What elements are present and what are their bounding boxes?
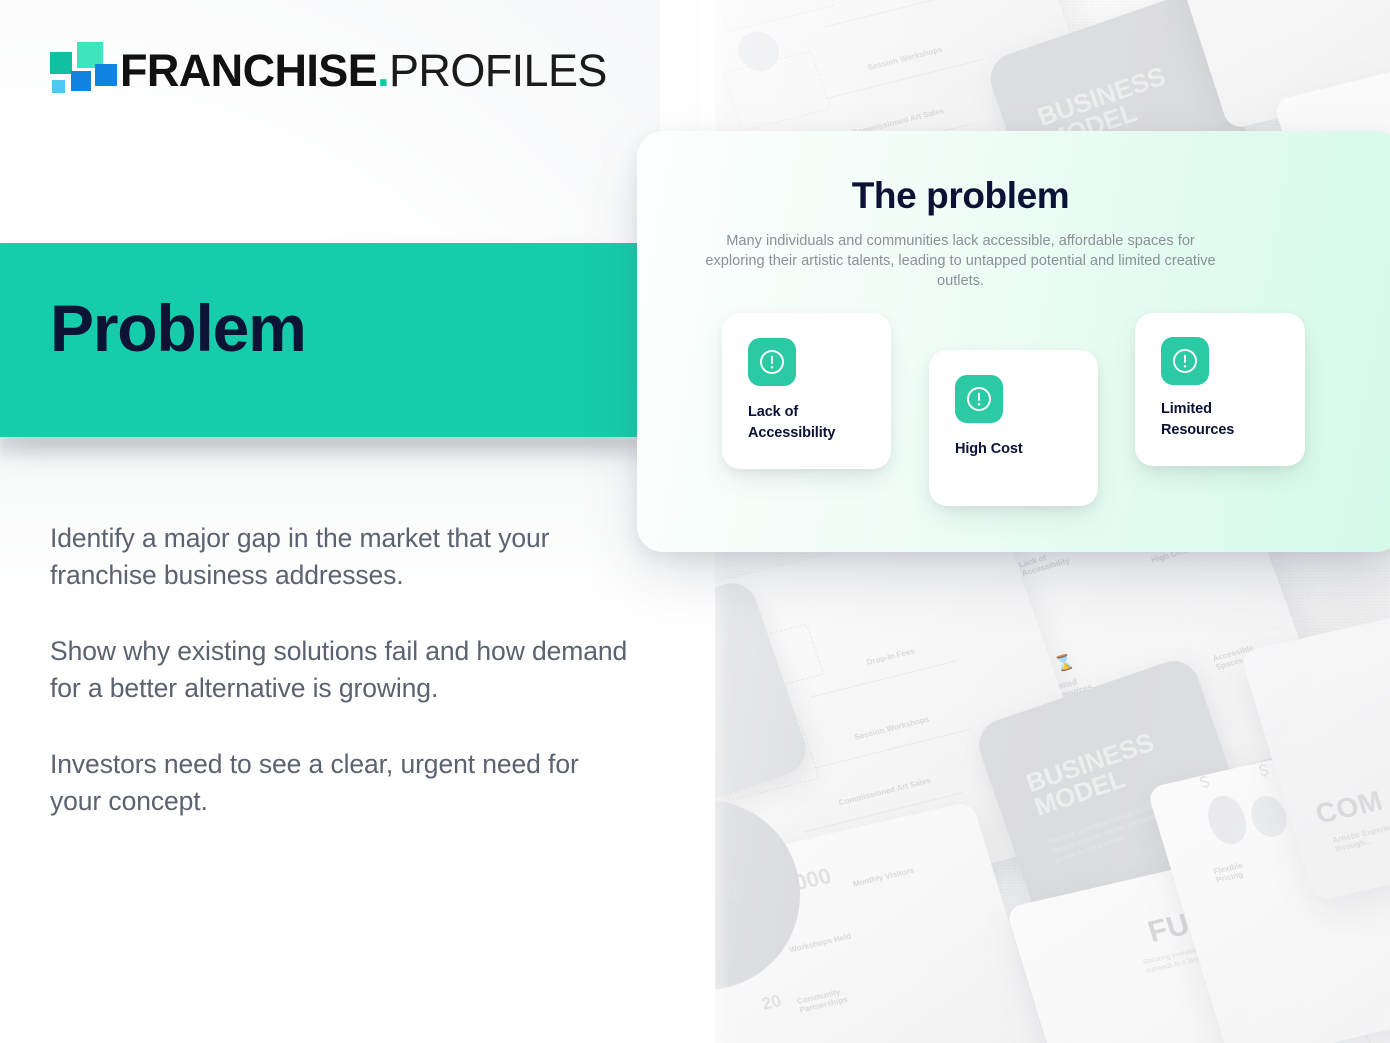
- copy-paragraph-1: Identify a major gap in the market that …: [50, 520, 630, 594]
- copy-paragraph-2: Show why existing solutions fail and how…: [50, 633, 630, 707]
- problem-card-label: High Cost: [955, 439, 1084, 460]
- logo-word-franchise: FRANCHISE: [120, 45, 377, 96]
- slide-preview-card[interactable]: The problem Many individuals and communi…: [637, 131, 1390, 552]
- banner-dropshadow: [0, 437, 660, 463]
- problem-card-label: Lack of Accessibility: [748, 402, 877, 444]
- alert-circle-icon: [1161, 337, 1209, 385]
- logo-square-blue-small: [71, 71, 91, 91]
- logo-word-profiles: PROFILES: [389, 45, 607, 96]
- section-banner: Problem: [0, 243, 637, 437]
- logo-square-light-blue: [52, 80, 65, 93]
- problem-card-label: Limited Resources: [1161, 399, 1291, 441]
- logo-word-dot: .: [377, 45, 389, 96]
- alert-circle-icon: [748, 338, 796, 386]
- alert-circle-icon: [955, 375, 1003, 423]
- slide-preview-subtitle: Many individuals and communities lack ac…: [701, 231, 1221, 291]
- page-title: Problem: [50, 295, 306, 361]
- logo-square-blue: [95, 64, 117, 86]
- body-copy: Identify a major gap in the market that …: [50, 520, 630, 820]
- logo-wordmark: FRANCHISE.PROFILES: [120, 40, 607, 102]
- problem-card[interactable]: High Cost: [929, 350, 1098, 506]
- slide-canvas: Lack ofAccessibility High Cost LimitedRe…: [0, 0, 1390, 1043]
- logo-squares-icon: [48, 42, 106, 94]
- slide-preview-title: The problem: [637, 175, 1284, 217]
- copy-paragraph-3: Investors need to see a clear, urgent ne…: [50, 746, 630, 820]
- problem-card[interactable]: Lack of Accessibility: [722, 313, 891, 469]
- logo-square-teal: [50, 52, 72, 74]
- brand-logo[interactable]: FRANCHISE.PROFILES: [48, 42, 548, 104]
- problem-card[interactable]: Limited Resources: [1135, 313, 1305, 466]
